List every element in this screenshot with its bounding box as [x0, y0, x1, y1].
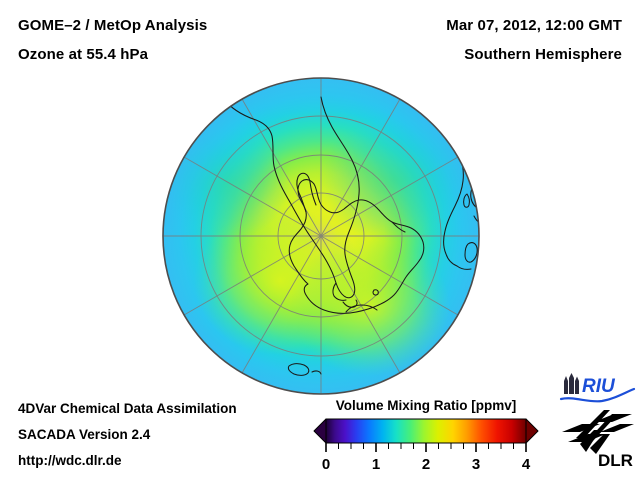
logo-group: RIU DLR: [552, 370, 640, 476]
dlr-logo: DLR: [560, 408, 636, 470]
colorbar-tick-4: 4: [522, 456, 531, 473]
colorbar-tick-2: 2: [422, 456, 430, 473]
riu-wordmark: RIU: [582, 376, 616, 397]
colorbar-gradient: [326, 419, 526, 443]
colorbar-tick-3: 3: [472, 456, 480, 473]
colorbar-title: Volume Mixing Ratio [ppmv]: [300, 398, 552, 413]
colorbar-extend-low: [314, 419, 326, 443]
timestamp-label: Mar 07, 2012, 12:00 GMT: [446, 17, 622, 34]
page-subtitle: Ozone at 55.4 hPa: [18, 46, 148, 63]
riu-tower-icon: [564, 373, 579, 394]
riu-logo: RIU: [558, 372, 638, 406]
dlr-mark-icon: [562, 410, 634, 454]
dlr-wordmark: DLR: [598, 451, 633, 470]
colorbar-extend-high: [526, 419, 538, 443]
colorbar-tick-0: 0: [322, 456, 330, 473]
footer-url: http://wdc.dlr.de: [18, 453, 122, 468]
colorbar-major-ticks: [326, 443, 526, 452]
page-title: GOME–2 / MetOp Analysis: [18, 17, 207, 34]
hemisphere-label: Southern Hemisphere: [464, 46, 622, 63]
colorbar: Volume Mixing Ratio [ppmv]: [300, 398, 552, 474]
footer-version: SACADA Version 2.4: [18, 427, 150, 442]
colorbar-tick-1: 1: [372, 456, 380, 473]
globe-map: [160, 76, 482, 398]
footer-method: 4DVar Chemical Data Assimilation: [18, 401, 237, 416]
